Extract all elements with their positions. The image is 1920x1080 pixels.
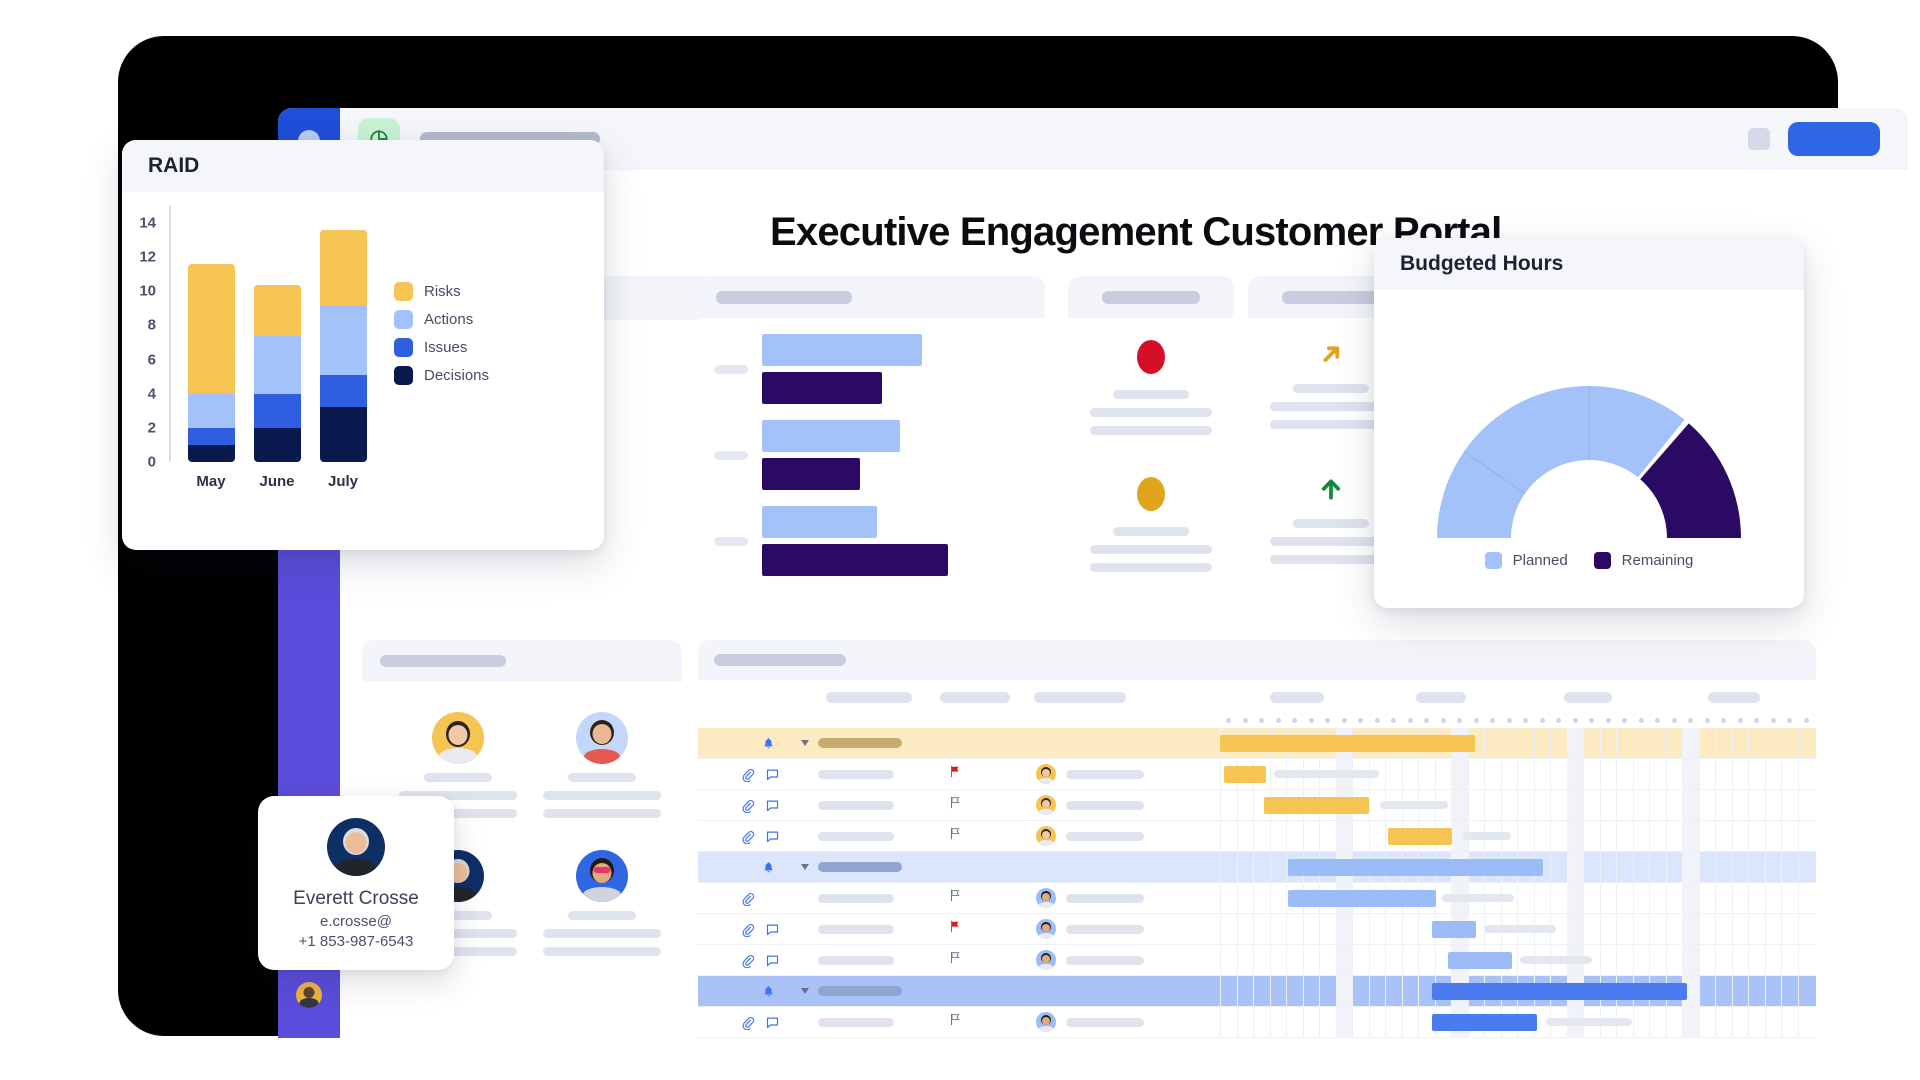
timeline-gridline [1517,945,1518,975]
timeline-gridline [1534,759,1535,789]
gantt-group-row[interactable] [698,728,1816,759]
timeline-gridline [1501,790,1502,820]
timeline-gridline [1385,759,1386,789]
task-name-cell [802,862,902,872]
timeline-gridline [1270,852,1271,882]
gantt-bar[interactable] [1288,890,1436,907]
timeline-gridline [1798,728,1799,758]
timeline-gridline [1781,976,1782,1006]
timeline-gridline [1286,976,1287,1006]
group-name-placeholder [818,986,902,996]
timeline-cell [1220,883,1816,913]
flag-icon-red[interactable] [948,919,962,939]
timeline-gridline [1781,790,1782,820]
gantt-task-row[interactable] [698,759,1816,790]
timeline-day-dot [1606,718,1611,723]
timeline-gridline [1798,759,1799,789]
timeline-gridline [1732,914,1733,944]
timeline-gridline [1402,914,1403,944]
timeline-gridline [1666,728,1667,758]
timeline-gridline [1715,790,1716,820]
timeline-cell [1220,945,1816,975]
assignee-cell[interactable] [1036,888,1144,908]
timeline-day-dot [1688,718,1693,723]
timeline-gridline [1534,883,1535,913]
legend-swatch-remaining [1594,552,1611,569]
timeline-gridline [1649,945,1650,975]
assignee-cell[interactable] [1036,950,1144,970]
timeline-weekend-band [1336,945,1353,975]
status-block-red [1068,340,1234,435]
bar-segment-risks [320,230,367,305]
member-name-placeholder [568,911,636,920]
timeline-gridline [1237,1007,1238,1037]
card-contact[interactable]: Everett Crosse e.crosse@ +1 853-987-6543 [258,796,454,970]
comment-icon[interactable] [765,953,780,968]
timeline-gridline [1517,759,1518,789]
timeline-gridline [1649,852,1650,882]
raid-legend: RisksActionsIssuesDecisions [394,282,489,394]
timeline-gridline [1732,728,1733,758]
timeline-day-dot [1705,718,1710,723]
bar-segment-issues [254,394,301,428]
timeline-gridline [1253,945,1254,975]
legend-swatch-issues [394,338,413,357]
timeline-weekend-band [1336,1007,1353,1037]
timeline-header-placeholder [1708,692,1760,703]
timeline-gridline [1517,790,1518,820]
timeline-gridline [1369,914,1370,944]
attachment-icon[interactable] [740,953,755,968]
timeline-day-dot [1457,718,1462,723]
timeline-gridline [1253,1007,1254,1037]
timeline-gridline [1798,790,1799,820]
timeline-gridline [1616,759,1617,789]
y-axis-tick: 2 [122,419,156,436]
timeline-gridline [1303,821,1304,851]
status-text-placeholder [1090,563,1212,572]
timeline-gridline [1732,759,1733,789]
timeline-weekend-band [1451,790,1468,820]
flag-icon-red[interactable] [948,764,962,784]
gantt-task-row[interactable] [698,914,1816,945]
gantt-bar-label-placeholder [1380,801,1448,809]
timeline-gridline [1583,821,1584,851]
timeline-weekend-band [1567,759,1584,789]
assignee-name-placeholder [1066,832,1144,841]
timeline-cell [1220,1007,1816,1037]
timeline-day-dot [1490,718,1495,723]
timeline-day-dot [1441,718,1446,723]
timeline-gridline [1732,945,1733,975]
timeline-gridline [1237,852,1238,882]
timeline-gridline [1666,914,1667,944]
bar-planned [762,420,900,452]
timeline-day-dot [1424,718,1429,723]
timeline-gridline [1253,790,1254,820]
card-bar-chart-body [698,318,1045,606]
legend-label-planned: Planned [1513,552,1568,569]
timeline-gridline [1369,821,1370,851]
timeline-weekend-band [1682,852,1699,882]
bell-icon[interactable] [762,985,775,998]
timeline-gridline [1237,976,1238,1006]
assignee-cell[interactable] [1036,795,1144,815]
attachment-icon[interactable] [740,798,755,813]
avatar [1036,888,1056,908]
card-status-body [1068,318,1234,572]
timeline-gridline [1550,728,1551,758]
timeline-gridline [1253,883,1254,913]
timeline-gridline [1748,914,1749,944]
gantt-bar-label-placeholder [1442,894,1514,902]
timeline-gridline [1583,883,1584,913]
row-icons [740,1015,780,1030]
attachment-icon[interactable] [740,829,755,844]
assignee-name-placeholder [1066,1018,1144,1027]
secondary-action-button[interactable] [1748,128,1770,150]
timeline-gridline [1732,790,1733,820]
timeline-gridline [1468,759,1469,789]
row-icons [740,953,780,968]
timeline-gridline [1666,883,1667,913]
timeline-day-dot [1243,718,1248,723]
bar-stack-july[interactable] [320,230,367,462]
team-member-2[interactable] [542,712,662,818]
timeline-gridline [1633,883,1634,913]
flag-icon-outline[interactable] [948,795,962,815]
timeline-gridline [1220,945,1221,975]
timeline-gridline [1649,1007,1650,1037]
timeline-gridline [1550,852,1551,882]
timeline-gridline [1765,852,1766,882]
timeline-cell [1220,821,1816,851]
gantt-bar[interactable] [1264,797,1369,814]
timeline-gridline [1748,728,1749,758]
gantt-bar[interactable] [1224,766,1266,783]
timeline-gridline [1633,1007,1634,1037]
timeline-gridline [1303,1007,1304,1037]
legend-label-issues: Issues [424,339,467,356]
timeline-header-placeholder [1416,692,1466,703]
attachment-icon[interactable] [740,891,755,906]
assignee-name-placeholder [1066,894,1144,903]
timeline-gridline [1534,728,1535,758]
contact-avatar [327,818,385,876]
column-header-placeholder [940,692,1010,703]
avatar [1036,826,1056,846]
timeline-gridline [1699,945,1700,975]
primary-action-button[interactable] [1788,122,1880,156]
flag-icon-outline[interactable] [948,1012,962,1032]
timeline-day-dot [1523,718,1528,723]
team-member-4[interactable] [542,850,662,956]
timeline-gridline [1583,728,1584,758]
legend-label-risks: Risks [424,283,461,300]
card-status-header [1068,276,1234,318]
gantt-task-row[interactable] [698,1007,1816,1038]
timeline-gridline [1748,883,1749,913]
chevron-down-icon[interactable] [801,864,809,870]
attachment-icon[interactable] [740,767,755,782]
gantt-bar[interactable] [1448,952,1512,969]
timeline-gridline [1402,945,1403,975]
card-gantt [698,640,1816,1038]
timeline-weekend-band [1682,1007,1699,1037]
timeline-day-dot [1375,718,1380,723]
timeline-day-dot [1804,718,1809,723]
row-icons [740,922,780,937]
timeline-gridline [1303,914,1304,944]
timeline-gridline [1534,790,1535,820]
timeline-gridline [1418,914,1419,944]
task-name-placeholder [818,1018,894,1027]
legend-label-remaining: Remaining [1622,552,1694,569]
timeline-day-dot [1391,718,1396,723]
timeline-day-dot [1672,718,1677,723]
timeline-weekend-band [1336,976,1353,1006]
gantt-task-row[interactable] [698,821,1816,852]
timeline-day-dot [1589,718,1594,723]
member-name-placeholder [568,773,636,782]
timeline-gridline [1633,790,1634,820]
timeline-gridline [1270,821,1271,851]
timeline-gridline [1616,914,1617,944]
member-info-placeholder [543,929,661,938]
task-name-cell [802,1018,894,1027]
timeline-gridline [1484,728,1485,758]
assignee-cell[interactable] [1036,764,1144,784]
timeline-day-dot [1787,718,1792,723]
chevron-down-icon[interactable] [801,740,809,746]
timeline-weekend-band [1336,821,1353,851]
assignee-cell[interactable] [1036,1012,1144,1032]
timeline-weekend-band [1567,790,1584,820]
bell-icon[interactable] [762,861,775,874]
chevron-down-icon[interactable] [801,988,809,994]
bar-actual [762,458,860,490]
y-axis-tick: 12 [122,249,156,266]
x-axis-label: May [176,473,246,490]
trend-label-placeholder [1293,519,1369,528]
timeline-day-dot [1754,718,1759,723]
gantt-group-row[interactable] [698,852,1816,883]
timeline-day-dot [1259,718,1264,723]
timeline-cell [1220,759,1816,789]
gantt-task-row[interactable] [698,883,1816,914]
bar-stack-may[interactable] [188,264,235,462]
legend-item-actions: Actions [394,310,489,329]
bar-stack-june[interactable] [254,285,301,462]
timeline-gridline [1798,945,1799,975]
task-name-cell [802,925,894,934]
timeline-gridline [1715,976,1716,1006]
timeline-gridline [1352,821,1353,851]
y-axis-tick: 6 [122,351,156,368]
timeline-gridline [1319,821,1320,851]
gantt-bar[interactable] [1432,983,1687,1000]
timeline-gridline [1237,790,1238,820]
timeline-gridline [1484,759,1485,789]
comment-icon[interactable] [765,798,780,813]
card-bar-chart-header [698,276,1045,318]
timeline-weekend-band [1682,759,1699,789]
timeline-gridline [1220,976,1221,1006]
avatar [576,712,628,764]
timeline-gridline [1616,728,1617,758]
gantt-day-scale [698,714,1816,728]
timeline-weekend-band [1567,883,1584,913]
bar-segment-actions [320,305,367,375]
timeline-day-dot [1309,718,1314,723]
legend-label-actions: Actions [424,311,473,328]
timeline-gridline [1616,821,1617,851]
timeline-gridline [1699,883,1700,913]
bar-segment-decisions [188,445,235,462]
assignee-cell[interactable] [1036,919,1144,939]
timeline-gridline [1319,976,1320,1006]
timeline-gridline [1517,883,1518,913]
timeline-cell [1220,728,1816,758]
status-label-placeholder [1113,390,1189,399]
timeline-gridline [1699,976,1700,1006]
bell-icon[interactable] [762,737,775,750]
comment-icon[interactable] [765,829,780,844]
timeline-header-placeholder [1270,692,1324,703]
timeline-gridline [1649,914,1650,944]
gantt-bar[interactable] [1388,828,1452,845]
gantt-bar[interactable] [1220,735,1475,752]
assignee-name-placeholder [1066,956,1144,965]
timeline-gridline [1798,1007,1799,1037]
timeline-gridline [1600,759,1601,789]
card-status-rag [1068,276,1234,606]
bar-segment-actions [188,394,235,428]
timeline-gridline [1286,945,1287,975]
task-name-cell [802,956,894,965]
legend-item-planned: Planned [1485,552,1568,569]
status-text-placeholder [1090,408,1212,417]
timeline-gridline [1798,821,1799,851]
timeline-gridline [1616,852,1617,882]
timeline-gridline [1418,976,1419,1006]
flag-icon-outline[interactable] [948,950,962,970]
timeline-gridline [1748,976,1749,1006]
timeline-gridline [1237,883,1238,913]
task-name-placeholder [818,894,894,903]
timeline-gridline [1220,914,1221,944]
timeline-day-dot [1573,718,1578,723]
avatar [432,712,484,764]
timeline-gridline [1798,883,1799,913]
timeline-gridline [1798,914,1799,944]
timeline-gridline [1699,1007,1700,1037]
gantt-rows [698,728,1816,1038]
gantt-bar[interactable] [1288,859,1543,876]
group-name-placeholder [818,738,902,748]
flag-icon-outline[interactable] [948,826,962,846]
attachment-icon[interactable] [740,922,755,937]
timeline-gridline [1616,945,1617,975]
timeline-gridline [1715,759,1716,789]
y-axis-tick: 4 [122,385,156,402]
timeline-gridline [1600,852,1601,882]
card-title-placeholder [1282,291,1380,304]
timeline-gridline [1649,790,1650,820]
timeline-gridline [1633,759,1634,789]
timeline-gridline [1402,759,1403,789]
row-icons [740,829,780,844]
comment-icon[interactable] [765,922,780,937]
timeline-gridline [1616,883,1617,913]
task-name-cell [802,832,894,841]
timeline-gridline [1715,883,1716,913]
member-info-placeholder [543,947,661,956]
timeline-day-dot [1408,718,1413,723]
timeline-gridline [1220,790,1221,820]
row-icons [762,737,775,750]
card-title-placeholder [716,291,852,304]
bar-segment-risks [188,264,235,394]
timeline-gridline [1220,759,1221,789]
sidebar-item-profile-avatar[interactable] [296,982,322,1008]
bar-actual [762,372,882,404]
gantt-task-row[interactable] [698,790,1816,821]
timeline-gridline [1798,976,1799,1006]
gantt-group-row[interactable] [698,976,1816,1007]
timeline-weekend-band [1567,914,1584,944]
timeline-gridline [1352,914,1353,944]
gantt-task-row[interactable] [698,945,1816,976]
legend-item-issues: Issues [394,338,489,357]
status-block-amber [1068,477,1234,572]
timeline-day-dot [1358,718,1363,723]
timeline-gridline [1633,852,1634,882]
gantt-bar[interactable] [1432,921,1476,938]
task-name-placeholder [818,956,894,965]
assignee-cell[interactable] [1036,826,1144,846]
timeline-gridline [1732,821,1733,851]
attachment-icon[interactable] [740,1015,755,1030]
timeline-weekend-band [1682,883,1699,913]
timeline-gridline [1666,852,1667,882]
card-team-header [362,640,682,682]
timeline-gridline [1220,852,1221,882]
timeline-gridline [1534,821,1535,851]
timeline-gridline [1385,914,1386,944]
bar-group-2 [714,420,900,490]
trend-up-right-arrow-icon [1316,338,1346,370]
gantt-bar[interactable] [1432,1014,1537,1031]
timeline-gridline [1732,852,1733,882]
contact-email: e.crosse@ [284,913,428,930]
gantt-bar-label-placeholder [1520,956,1592,964]
flag-icon-outline[interactable] [948,888,962,908]
timeline-gridline [1781,728,1782,758]
timeline-gridline [1781,883,1782,913]
assignee-name-placeholder [1066,925,1144,934]
timeline-gridline [1402,976,1403,1006]
timeline-gridline [1715,728,1716,758]
timeline-gridline [1286,883,1287,913]
bar-planned [762,334,922,366]
column-header-placeholder [1034,692,1126,703]
row-icons [740,891,755,906]
comment-icon[interactable] [765,767,780,782]
gantt-bar-label-placeholder [1546,1018,1632,1026]
comment-icon[interactable] [765,1015,780,1030]
avatar [1036,950,1056,970]
